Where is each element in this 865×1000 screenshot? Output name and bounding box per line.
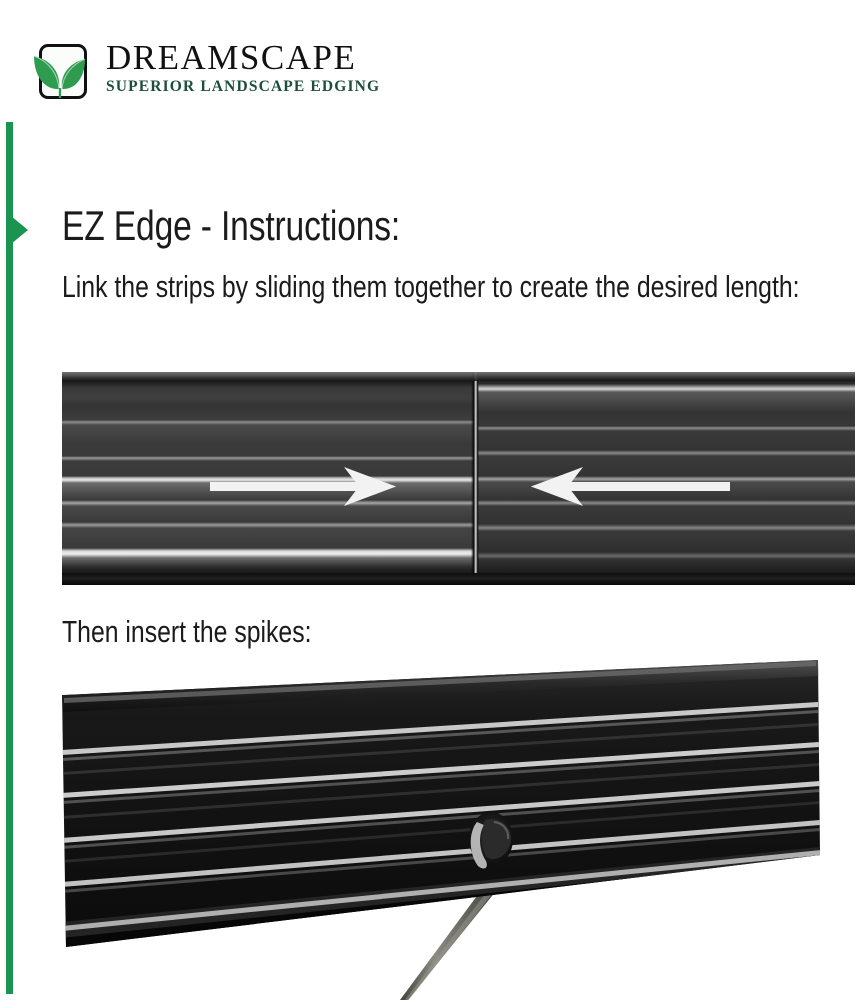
strip-bottom-shadow xyxy=(62,573,855,585)
left-accent-rail xyxy=(6,122,13,994)
brand-name: DREAMSCAPE xyxy=(106,40,380,75)
edging-strip-right xyxy=(476,372,855,585)
two-leaves-in-rounded-square-icon xyxy=(30,42,92,104)
page-title: EZ Edge - Instructions: xyxy=(62,202,400,250)
right-triangle-marker-icon xyxy=(11,216,28,244)
linking-strips-photo xyxy=(62,372,855,585)
brand-logo: DREAMSCAPE SUPERIOR LANDSCAPE EDGING xyxy=(30,40,380,104)
spike-illustration xyxy=(48,650,848,1000)
edging-strip-angled xyxy=(62,658,822,950)
edging-strip-left xyxy=(62,372,476,585)
strip-top-highlight xyxy=(62,372,855,381)
step2-heading: Then insert the spikes: xyxy=(62,614,312,650)
page-canvas: DREAMSCAPE SUPERIOR LANDSCAPE EDGING EZ … xyxy=(0,0,865,1000)
leaf-glyphs xyxy=(30,42,92,104)
strip-joint-seam xyxy=(471,372,479,585)
brand-tagline: SUPERIOR LANDSCAPE EDGING xyxy=(106,79,380,95)
spike-insert-photo xyxy=(48,650,848,1000)
intro-paragraph: Link the strips by sliding them together… xyxy=(62,264,846,309)
